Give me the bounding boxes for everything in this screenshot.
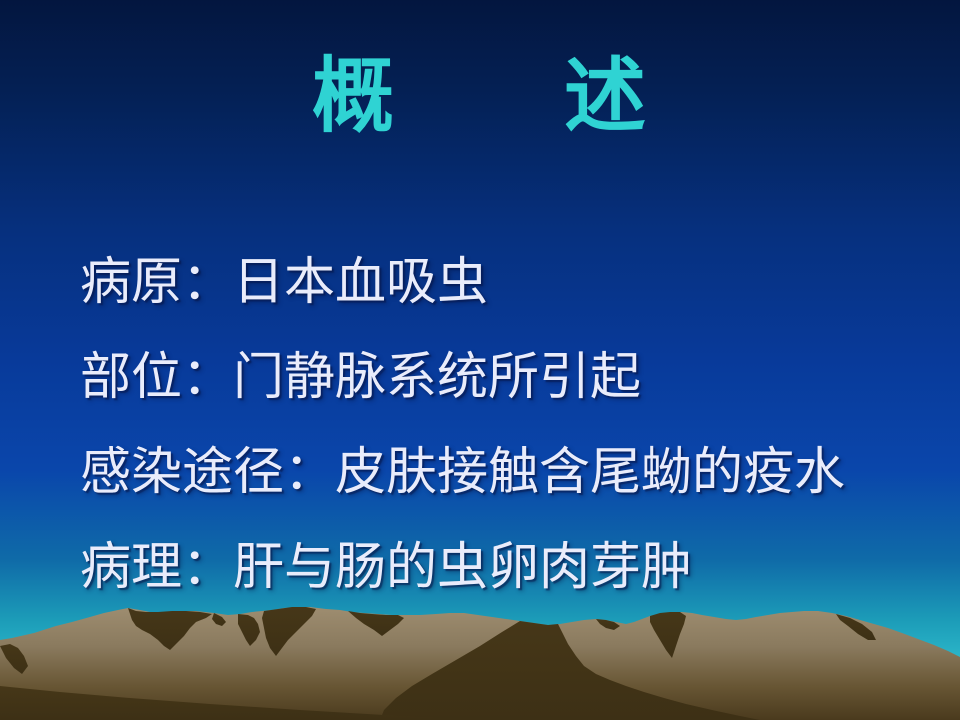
body-line-pathogen: 病原：日本血吸虫 xyxy=(80,236,940,331)
body-line-site: 部位：门静脉系统所引起 xyxy=(80,331,940,426)
body-line-infection-route: 感染途径：皮肤接触含尾蚴的疫水 xyxy=(80,426,940,521)
page-title: 概 述 xyxy=(312,52,648,142)
mountain-range-silhouette xyxy=(0,600,960,720)
title-block: 概 述 xyxy=(0,52,960,142)
presentation-slide: 概 述 病原：日本血吸虫 部位：门静脉系统所引起 感染途径：皮肤接触含尾蚴的疫水… xyxy=(0,0,960,720)
body-text-block: 病原：日本血吸虫 部位：门静脉系统所引起 感染途径：皮肤接触含尾蚴的疫水 病理：… xyxy=(80,236,940,616)
